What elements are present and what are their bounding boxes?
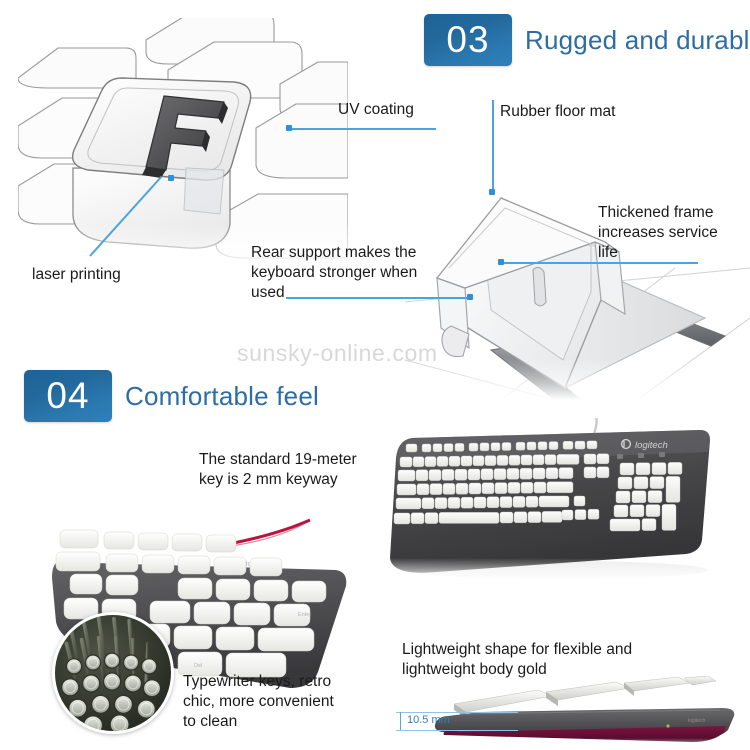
svg-text:Enter: Enter: [298, 612, 311, 618]
callout-typewriter-keys: Typewriter keys, retro chic, more conven…: [183, 672, 334, 731]
rear-support-sketch-illustration: [405, 150, 750, 400]
section-number-04: 04: [24, 370, 112, 422]
callout-thickened-frame: Thickened frame increases service life: [598, 203, 718, 262]
leader-dot-uv-coating: [286, 125, 292, 131]
leader-line-thickened-frame: [500, 262, 698, 264]
svg-text:Del: Del: [194, 663, 202, 669]
keyboard-side-profile-photo: logitech: [420, 676, 750, 750]
measure-tick-left: [400, 712, 401, 730]
typewriter-closeup-inset: [52, 612, 174, 734]
section-title-03: Rugged and durable: [525, 25, 750, 56]
watermark-text: sunsky-online.com: [237, 340, 438, 367]
callout-rear-support: Rear support makes the keyboard stronger…: [251, 243, 417, 302]
section-header-03: 03 Rugged and durable: [424, 14, 750, 66]
measure-guide-bottom: [396, 730, 518, 731]
callout-laser-printing: laser printing: [32, 265, 121, 285]
leader-line-rear-support: [286, 297, 471, 299]
callout-rubber-floor-mat: Rubber floor mat: [500, 102, 615, 122]
callout-keyway: The standard 19-meter key is 2 mm keyway: [199, 450, 357, 490]
infographic-page: 03 Rugged and durable UV coating Rubber …: [0, 0, 750, 750]
keyboard-full-photo: logitech: [388, 418, 750, 580]
callout-lightweight-shape: Lightweight shape for flexible and light…: [402, 640, 632, 680]
section-title-04: Comfortable feel: [125, 381, 319, 412]
callout-uv-coating: UV coating: [338, 100, 414, 120]
leader-dot-rear-support: [467, 294, 473, 300]
section-header-04: 04 Comfortable feel: [24, 370, 319, 422]
leader-line-uv-coating: [288, 128, 436, 130]
svg-text:logitech: logitech: [688, 718, 705, 724]
leader-dot-thickened-frame: [498, 259, 504, 265]
keycap-sketch-illustration: [18, 18, 348, 268]
leader-dot-rubber-floor-mat: [489, 189, 495, 195]
section-number-03: 03: [424, 14, 512, 66]
leader-dot-laser-printing: [168, 175, 174, 181]
leader-line-rubber-floor-mat: [492, 100, 494, 192]
callout-thickness: 10.5 mm: [407, 714, 450, 726]
svg-text:logitech: logitech: [635, 440, 668, 451]
measure-guide-top: [396, 712, 518, 713]
